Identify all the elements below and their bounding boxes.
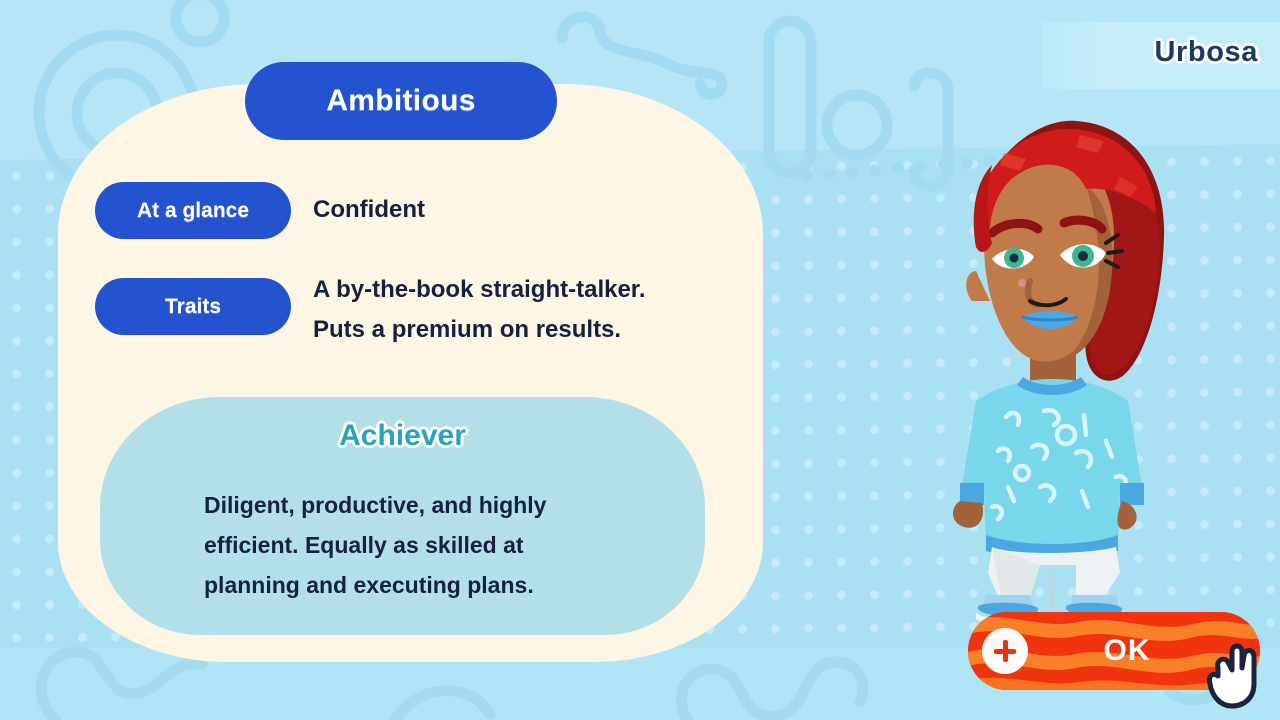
row-at-a-glance: At a glance Confident: [95, 182, 425, 239]
label-pill-at-a-glance: At a glance: [95, 182, 291, 239]
achiever-title: Achiever: [100, 419, 705, 453]
ok-button[interactable]: OK: [968, 612, 1260, 690]
personality-title-pill: Ambitious: [245, 62, 557, 140]
achiever-panel: Achiever Diligent, productive, and highl…: [100, 397, 705, 635]
character-name: Urbosa: [1154, 36, 1258, 69]
row-traits: Traits A by-the-book straight-talker. Pu…: [95, 278, 645, 350]
decor-arc-bottom-icon: [380, 660, 560, 720]
label-traits: Traits: [165, 295, 221, 319]
character-avatar: [880, 95, 1210, 625]
ok-button-label: OK: [968, 612, 1260, 690]
achiever-description: Diligent, productive, and highly efficie…: [204, 485, 634, 605]
label-pill-traits: Traits: [95, 278, 291, 335]
value-at-a-glance: Confident: [313, 182, 425, 239]
label-at-a-glance: At a glance: [137, 199, 249, 223]
game-screen: Urbosa Ambitious At a glance Confident T…: [0, 0, 1280, 720]
decor-ring-small-icon: [160, 0, 240, 58]
personality-title: Ambitious: [326, 84, 475, 118]
value-traits: A by-the-book straight-talker. Puts a pr…: [313, 270, 645, 350]
